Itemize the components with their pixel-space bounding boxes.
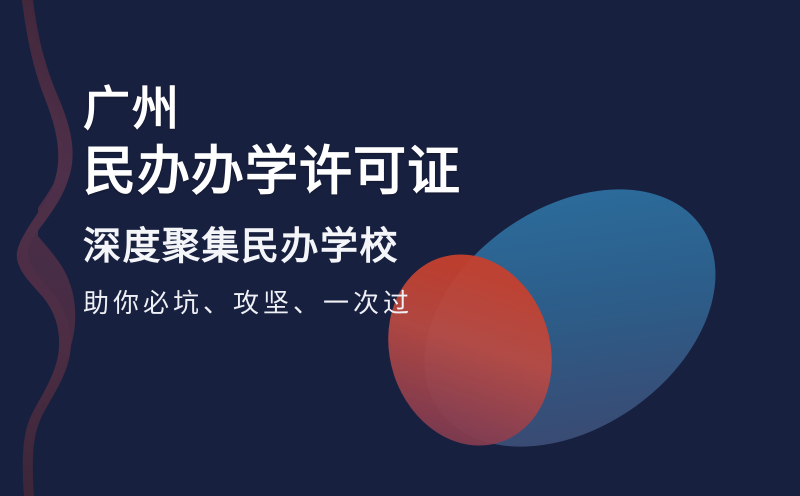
- banner-subtitle: 深度聚集民办学校: [83, 226, 643, 268]
- banner-text-block: 广州 民办办学许可证 深度聚集民办学校 助你必坑、攻坚、一次过: [83, 86, 643, 319]
- heading-line-1: 广州: [83, 86, 643, 134]
- heading-line-2: 民办办学许可证: [83, 140, 643, 203]
- wave-ribbon-icon: [17, 0, 75, 496]
- banner-tagline: 助你必坑、攻坚、一次过: [83, 290, 643, 319]
- promo-banner: 广州 民办办学许可证 深度聚集民办学校 助你必坑、攻坚、一次过: [0, 0, 800, 496]
